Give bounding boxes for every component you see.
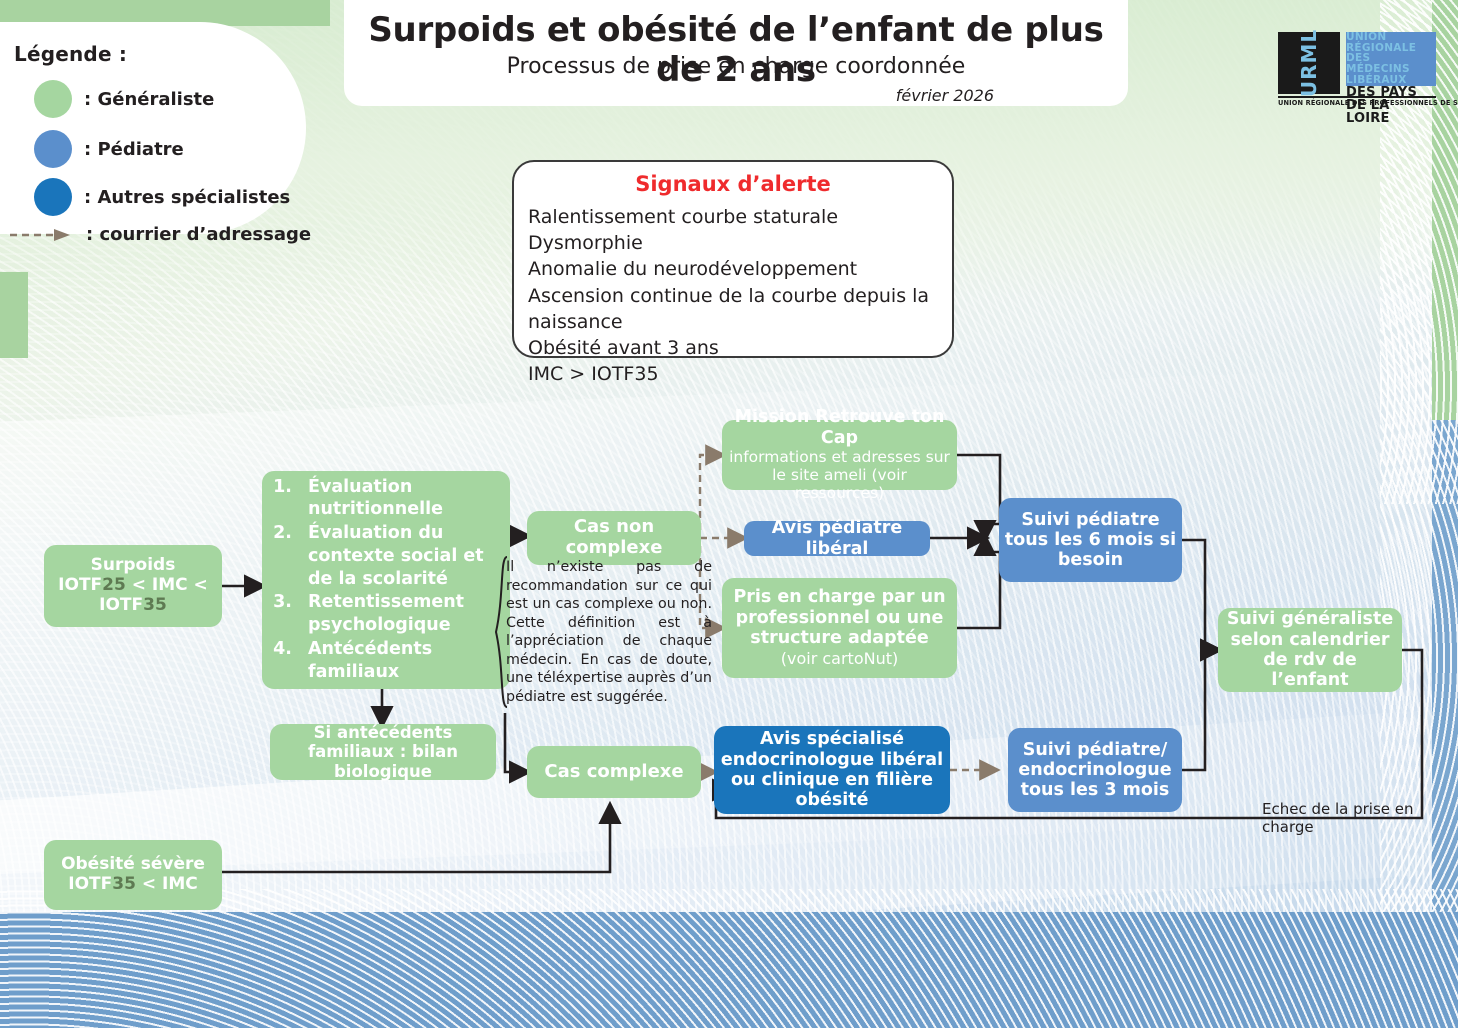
node-suivi-generaliste[interactable]: Suivi généraliste selon calendrier de rd…	[1218, 608, 1402, 692]
legend-panel: Légende : : Généraliste : Pédiatre : Aut…	[0, 22, 306, 234]
title-card: Surpoids et obésité de l’enfant de plus …	[344, 0, 1128, 106]
node-suivi-endocrinologue[interactable]: Suivi pédiatre/ endocrinologue tous les …	[1008, 728, 1182, 812]
alert-title: Signaux d’alerte	[514, 172, 952, 196]
node-surpoids[interactable]: Surpoids IOTF25 < IMC < IOTF35	[44, 545, 222, 627]
node-evaluation[interactable]: Évaluation nutritionnelle Évaluation du …	[262, 471, 510, 689]
alert-list: Ralentissement courbe staturale Dysmorph…	[528, 204, 942, 388]
node-surpoids-line2: IOTF25 < IMC < IOTF35	[44, 576, 222, 615]
dashed-arrow-icon	[8, 227, 74, 243]
pris-en-charge-subtitle: (voir cartoNut)	[781, 650, 898, 669]
alert-signals-box: Signaux d’alerte Ralentissement courbe s…	[512, 160, 954, 358]
legend-item-generaliste: : Généraliste	[34, 80, 214, 118]
alert-item: Anomalie du neurodéveloppement	[528, 256, 942, 282]
node-cas-complexe[interactable]: Cas complexe	[527, 746, 701, 798]
alert-item: Ascension continue de la courbe depuis l…	[528, 283, 942, 335]
urml-logo-tagline: UNION RÉGIONALE DES PROFESSIONNELS DE SA…	[1278, 99, 1436, 107]
background-bottom-band	[0, 912, 1458, 1028]
node-cas-non-complexe[interactable]: Cas non complexe	[527, 511, 701, 565]
evaluation-item: Retentissement psychologique	[298, 591, 500, 637]
node-antecedents-familiaux[interactable]: Si antécédents familiaux : bilan biologi…	[270, 724, 496, 780]
alert-item: IMC > IOTF35	[528, 361, 942, 387]
node-avis-specialise[interactable]: Avis spécialisé endocrinologue libéral o…	[714, 726, 950, 814]
page-subtitle: Processus de prise en charge coordonnée	[344, 54, 1128, 79]
node-pris-en-charge[interactable]: Pris en charge par un professionnel ou u…	[722, 578, 957, 678]
pris-en-charge-title: Pris en charge par un professionnel ou u…	[730, 587, 949, 648]
alert-item: Obésité avant 3 ans	[528, 335, 942, 361]
note-brace	[494, 556, 510, 712]
legend-label-pediatre: : Pédiatre	[84, 139, 184, 160]
urml-logo-mark: URML	[1278, 32, 1340, 94]
legend-swatch-specialistes	[34, 178, 72, 216]
legend-swatch-pediatre	[34, 130, 72, 168]
node-obesite-severe[interactable]: Obésité sévère IOTF35 < IMC	[44, 840, 222, 910]
legend-item-specialistes: : Autres spécialistes	[34, 178, 290, 216]
alert-item: Ralentissement courbe staturale	[528, 204, 942, 230]
note-cas-complexe-definition: Il n’existe pas de recommandation sur ce…	[506, 558, 712, 707]
node-mission-retrouve-ton-cap[interactable]: Mission Retrouve ton Cap informations et…	[722, 420, 957, 490]
urml-logo: URML UNION RÉGIONALE DES MÉDECINS LIBÉRA…	[1278, 32, 1436, 110]
node-suivi-pediatre[interactable]: Suivi pédiatre tous les 6 mois si besoin	[999, 498, 1182, 582]
legend-label-specialistes: : Autres spécialistes	[84, 187, 290, 208]
evaluation-item: Antécédents familiaux	[298, 638, 500, 684]
legend-label-generaliste: : Généraliste	[84, 89, 214, 110]
node-surpoids-line1: Surpoids	[44, 556, 222, 576]
page-date: février 2026	[896, 86, 994, 105]
evaluation-list: Évaluation nutritionnelle Évaluation du …	[262, 476, 510, 685]
evaluation-item: Évaluation du contexte social et de la s…	[298, 522, 500, 590]
urml-line-5: LIBÉRAUX	[1346, 75, 1436, 86]
evaluation-item: Évaluation nutritionnelle	[298, 476, 500, 522]
legend-swatch-generaliste	[34, 80, 72, 118]
urml-logo-text: UNION RÉGIONALE DES MÉDECINS LIBÉRAUX DE…	[1346, 32, 1436, 125]
legend-label-courrier: : courrier d’adressage	[86, 224, 311, 245]
label-echec-prise-en-charge: Echec de la prise en charge	[1262, 800, 1458, 836]
node-avis-pediatre-liberal[interactable]: Avis pédiatre libéral	[744, 521, 930, 556]
node-obesite-line2: IOTF35 < IMC	[61, 875, 205, 895]
mission-title: Mission Retrouve ton Cap	[728, 407, 951, 448]
alert-item: Dysmorphie	[528, 230, 942, 256]
urml-logo-divider	[1278, 96, 1436, 98]
node-obesite-line1: Obésité sévère	[61, 855, 205, 875]
legend-item-pediatre: : Pédiatre	[34, 130, 184, 168]
legend-item-courrier: : courrier d’adressage	[8, 224, 311, 245]
background-left-strip	[0, 272, 28, 358]
mission-subtitle: informations et adresses sur le site ame…	[728, 449, 951, 503]
legend-title: Légende :	[14, 42, 127, 66]
urml-logo-mark-text: URML	[1297, 29, 1321, 97]
infographic-page: Légende : : Généraliste : Pédiatre : Aut…	[0, 0, 1458, 1028]
